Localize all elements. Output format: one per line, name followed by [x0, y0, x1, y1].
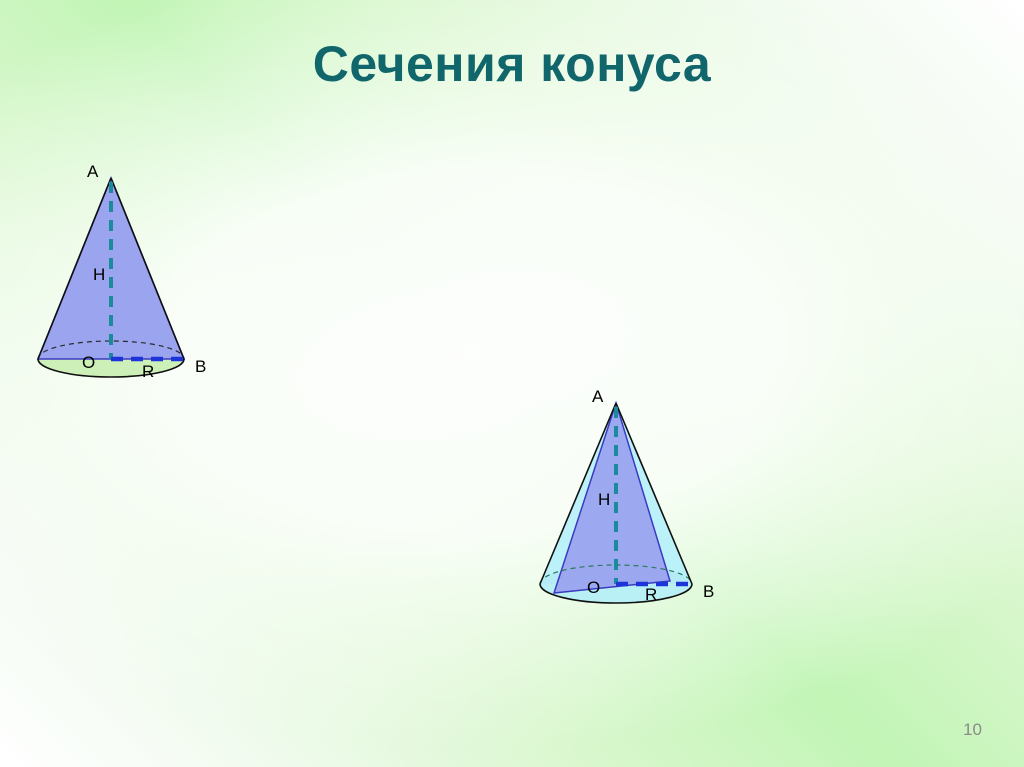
label-edge-B: B — [195, 357, 206, 376]
label-radius-R: R — [142, 362, 154, 381]
label-center-O: O — [82, 353, 95, 372]
label-apex-A: A — [592, 387, 604, 406]
slide-canvas: Сечения конуса A H O R B — [0, 0, 1024, 767]
label-edge-B: B — [703, 582, 714, 601]
label-height-H: H — [93, 265, 105, 284]
page-title: Сечения конуса — [0, 38, 1024, 91]
label-apex-A: A — [87, 162, 99, 181]
page-number: 10 — [963, 720, 982, 740]
label-height-H: H — [598, 490, 610, 509]
label-center-O: O — [587, 578, 600, 597]
figure-cone-axial-section: A H O R B — [18, 162, 1024, 387]
cone-axial-svg: A H O R B — [18, 162, 228, 387]
cone-vertex-svg: A H O R B — [518, 387, 733, 612]
base-front-region — [38, 359, 184, 377]
figure-cone-vertex-section: A H O R B — [518, 387, 1024, 612]
label-radius-R: R — [645, 585, 657, 604]
